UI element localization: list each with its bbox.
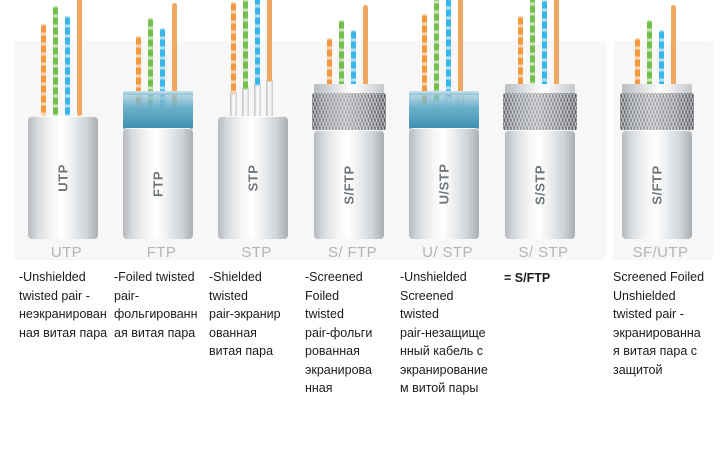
jacket-label: FTP [151, 170, 166, 196]
column-description: -Screened Foiled twisted pair-фольги ров… [305, 268, 401, 398]
jacket-label: STP [246, 164, 261, 191]
cable-illustration: FTP [114, 41, 209, 241]
wire-orange [41, 24, 46, 116]
column-code-label: S/ STP [496, 244, 591, 261]
column-code-label: UTP [19, 244, 114, 261]
wire-tan [458, 0, 463, 94]
wire-green [243, 0, 248, 90]
jacket-label: S/FTP [342, 165, 357, 204]
column-description: = S/FTP [504, 269, 600, 288]
cable-jacket: UTP [28, 116, 98, 239]
wire-green [434, 0, 439, 102]
cable-illustration: STP [209, 41, 304, 241]
diagram-canvas: UTPUTP-Unshielded twisted pair - неэкран… [0, 0, 720, 450]
braided-screen [503, 93, 577, 130]
jacket-label: UTP [56, 164, 71, 192]
column-description: -Unshielded twisted pair - неэкранирован… [19, 268, 115, 342]
cable-jacket: U/STP [409, 128, 479, 239]
column-description: -Unshielded Screened twisted pair-незащи… [400, 268, 496, 398]
foil-shield-edge [409, 91, 479, 95]
cable-jacket: S/STP [505, 130, 575, 239]
wire-orange [231, 2, 236, 94]
column-code-label: FTP [114, 244, 209, 261]
column-description: -Foiled twisted pair- фольгированн ая ви… [114, 268, 210, 342]
braided-screen [312, 93, 386, 130]
cable-illustration: S/FTP [305, 41, 400, 241]
twisted-pair-wires [209, 6, 304, 116]
column-code-label: S/ FTP [305, 244, 400, 261]
foil-shield [409, 91, 479, 129]
cable-illustration: UTP [19, 41, 114, 241]
cable-illustration: U/STP [400, 41, 495, 241]
wire-tan [267, 0, 272, 82]
cable-jacket: FTP [123, 128, 193, 239]
foil-shield [123, 91, 193, 129]
column-code-label: STP [209, 244, 304, 261]
wire-tan [554, 0, 559, 96]
column-description: -Shielded twisted pair-экранир ованная в… [209, 268, 305, 361]
column-code-label: SF/UTP [613, 244, 708, 261]
column-code-label: U/ STP [400, 244, 495, 261]
wire-green [53, 6, 58, 116]
wire-blue [255, 0, 260, 86]
pair-shield-tube [254, 82, 261, 116]
foil-shield-edge [123, 91, 193, 95]
cable-illustration: S/FTP [613, 41, 708, 241]
cable-illustration: S/STP [496, 41, 591, 241]
cable-jacket: S/FTP [622, 130, 692, 239]
jacket-label: S/FTP [650, 165, 665, 204]
jacket-label: S/STP [533, 164, 548, 204]
jacket-label: U/STP [437, 163, 452, 204]
cable-jacket: STP [218, 116, 288, 239]
pair-shield-tube [242, 86, 249, 116]
wire-tan [77, 0, 82, 116]
cable-jacket: S/FTP [314, 130, 384, 239]
pair-shield-tube [266, 78, 273, 116]
column-description: Screened Foiled Unshielded twisted pair … [613, 268, 709, 379]
wire-blue [446, 0, 451, 98]
wire-blue [65, 16, 70, 116]
braided-screen [620, 93, 694, 130]
twisted-pair-wires [19, 2, 114, 116]
